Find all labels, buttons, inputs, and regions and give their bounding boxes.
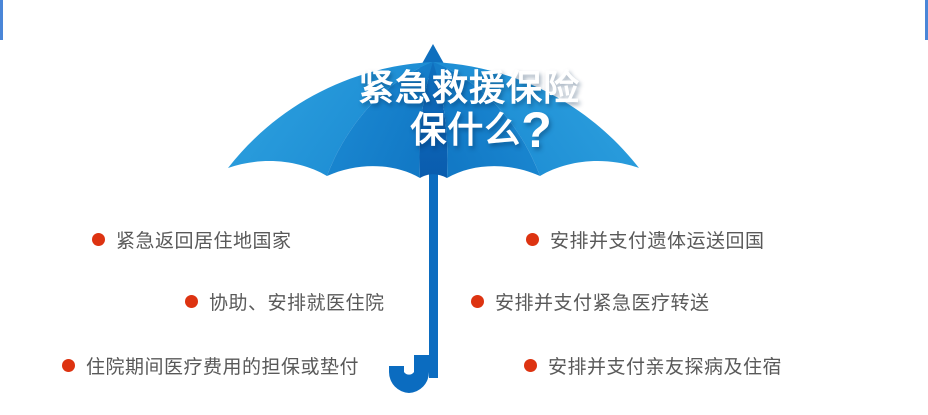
bullet-dot-icon <box>62 359 75 372</box>
edge-rail-left <box>0 0 3 40</box>
benefits-section: 紧急返回居住地国家 协助、安排就医住院 住院期间医疗费用的担保或垫付 安排并支付… <box>0 214 928 399</box>
list-item: 协助、安排就医住院 <box>185 288 385 315</box>
list-item: 安排并支付遗体运送回国 <box>526 226 765 253</box>
benefits-column-right: 安排并支付遗体运送回国 安排并支付紧急医疗转送 安排并支付亲友探病及住宿 <box>464 214 928 399</box>
headline-line-2: 保什么? <box>0 110 928 150</box>
list-item: 住院期间医疗费用的担保或垫付 <box>62 352 359 379</box>
headline-line-2-text: 保什么 <box>410 109 521 150</box>
headline-question-mark: ? <box>521 102 552 158</box>
list-item-label: 住院期间医疗费用的担保或垫付 <box>86 352 359 379</box>
list-item-label: 安排并支付遗体运送回国 <box>550 226 765 253</box>
infographic-canvas: 紧急救援保险 保什么? 紧急返回居住地国家 协助、安排就医住院 住院期间医疗费用… <box>0 0 928 415</box>
bullet-dot-icon <box>524 359 537 372</box>
list-item-label: 紧急返回居住地国家 <box>116 226 292 253</box>
list-item-label: 协助、安排就医住院 <box>209 288 385 315</box>
benefits-column-left: 紧急返回居住地国家 协助、安排就医住院 住院期间医疗费用的担保或垫付 <box>0 214 464 399</box>
headline-line-1: 紧急救援保险 <box>0 68 928 108</box>
list-item-label: 安排并支付亲友探病及住宿 <box>548 352 782 379</box>
list-item-label: 安排并支付紧急医疗转送 <box>495 288 710 315</box>
bullet-dot-icon <box>185 295 198 308</box>
headline: 紧急救援保险 保什么? <box>0 68 928 151</box>
bullet-dot-icon <box>526 233 539 246</box>
bullet-dot-icon <box>92 233 105 246</box>
list-item: 安排并支付亲友探病及住宿 <box>524 352 782 379</box>
list-item: 安排并支付紧急医疗转送 <box>471 288 710 315</box>
list-item: 紧急返回居住地国家 <box>92 226 292 253</box>
bullet-dot-icon <box>471 295 484 308</box>
